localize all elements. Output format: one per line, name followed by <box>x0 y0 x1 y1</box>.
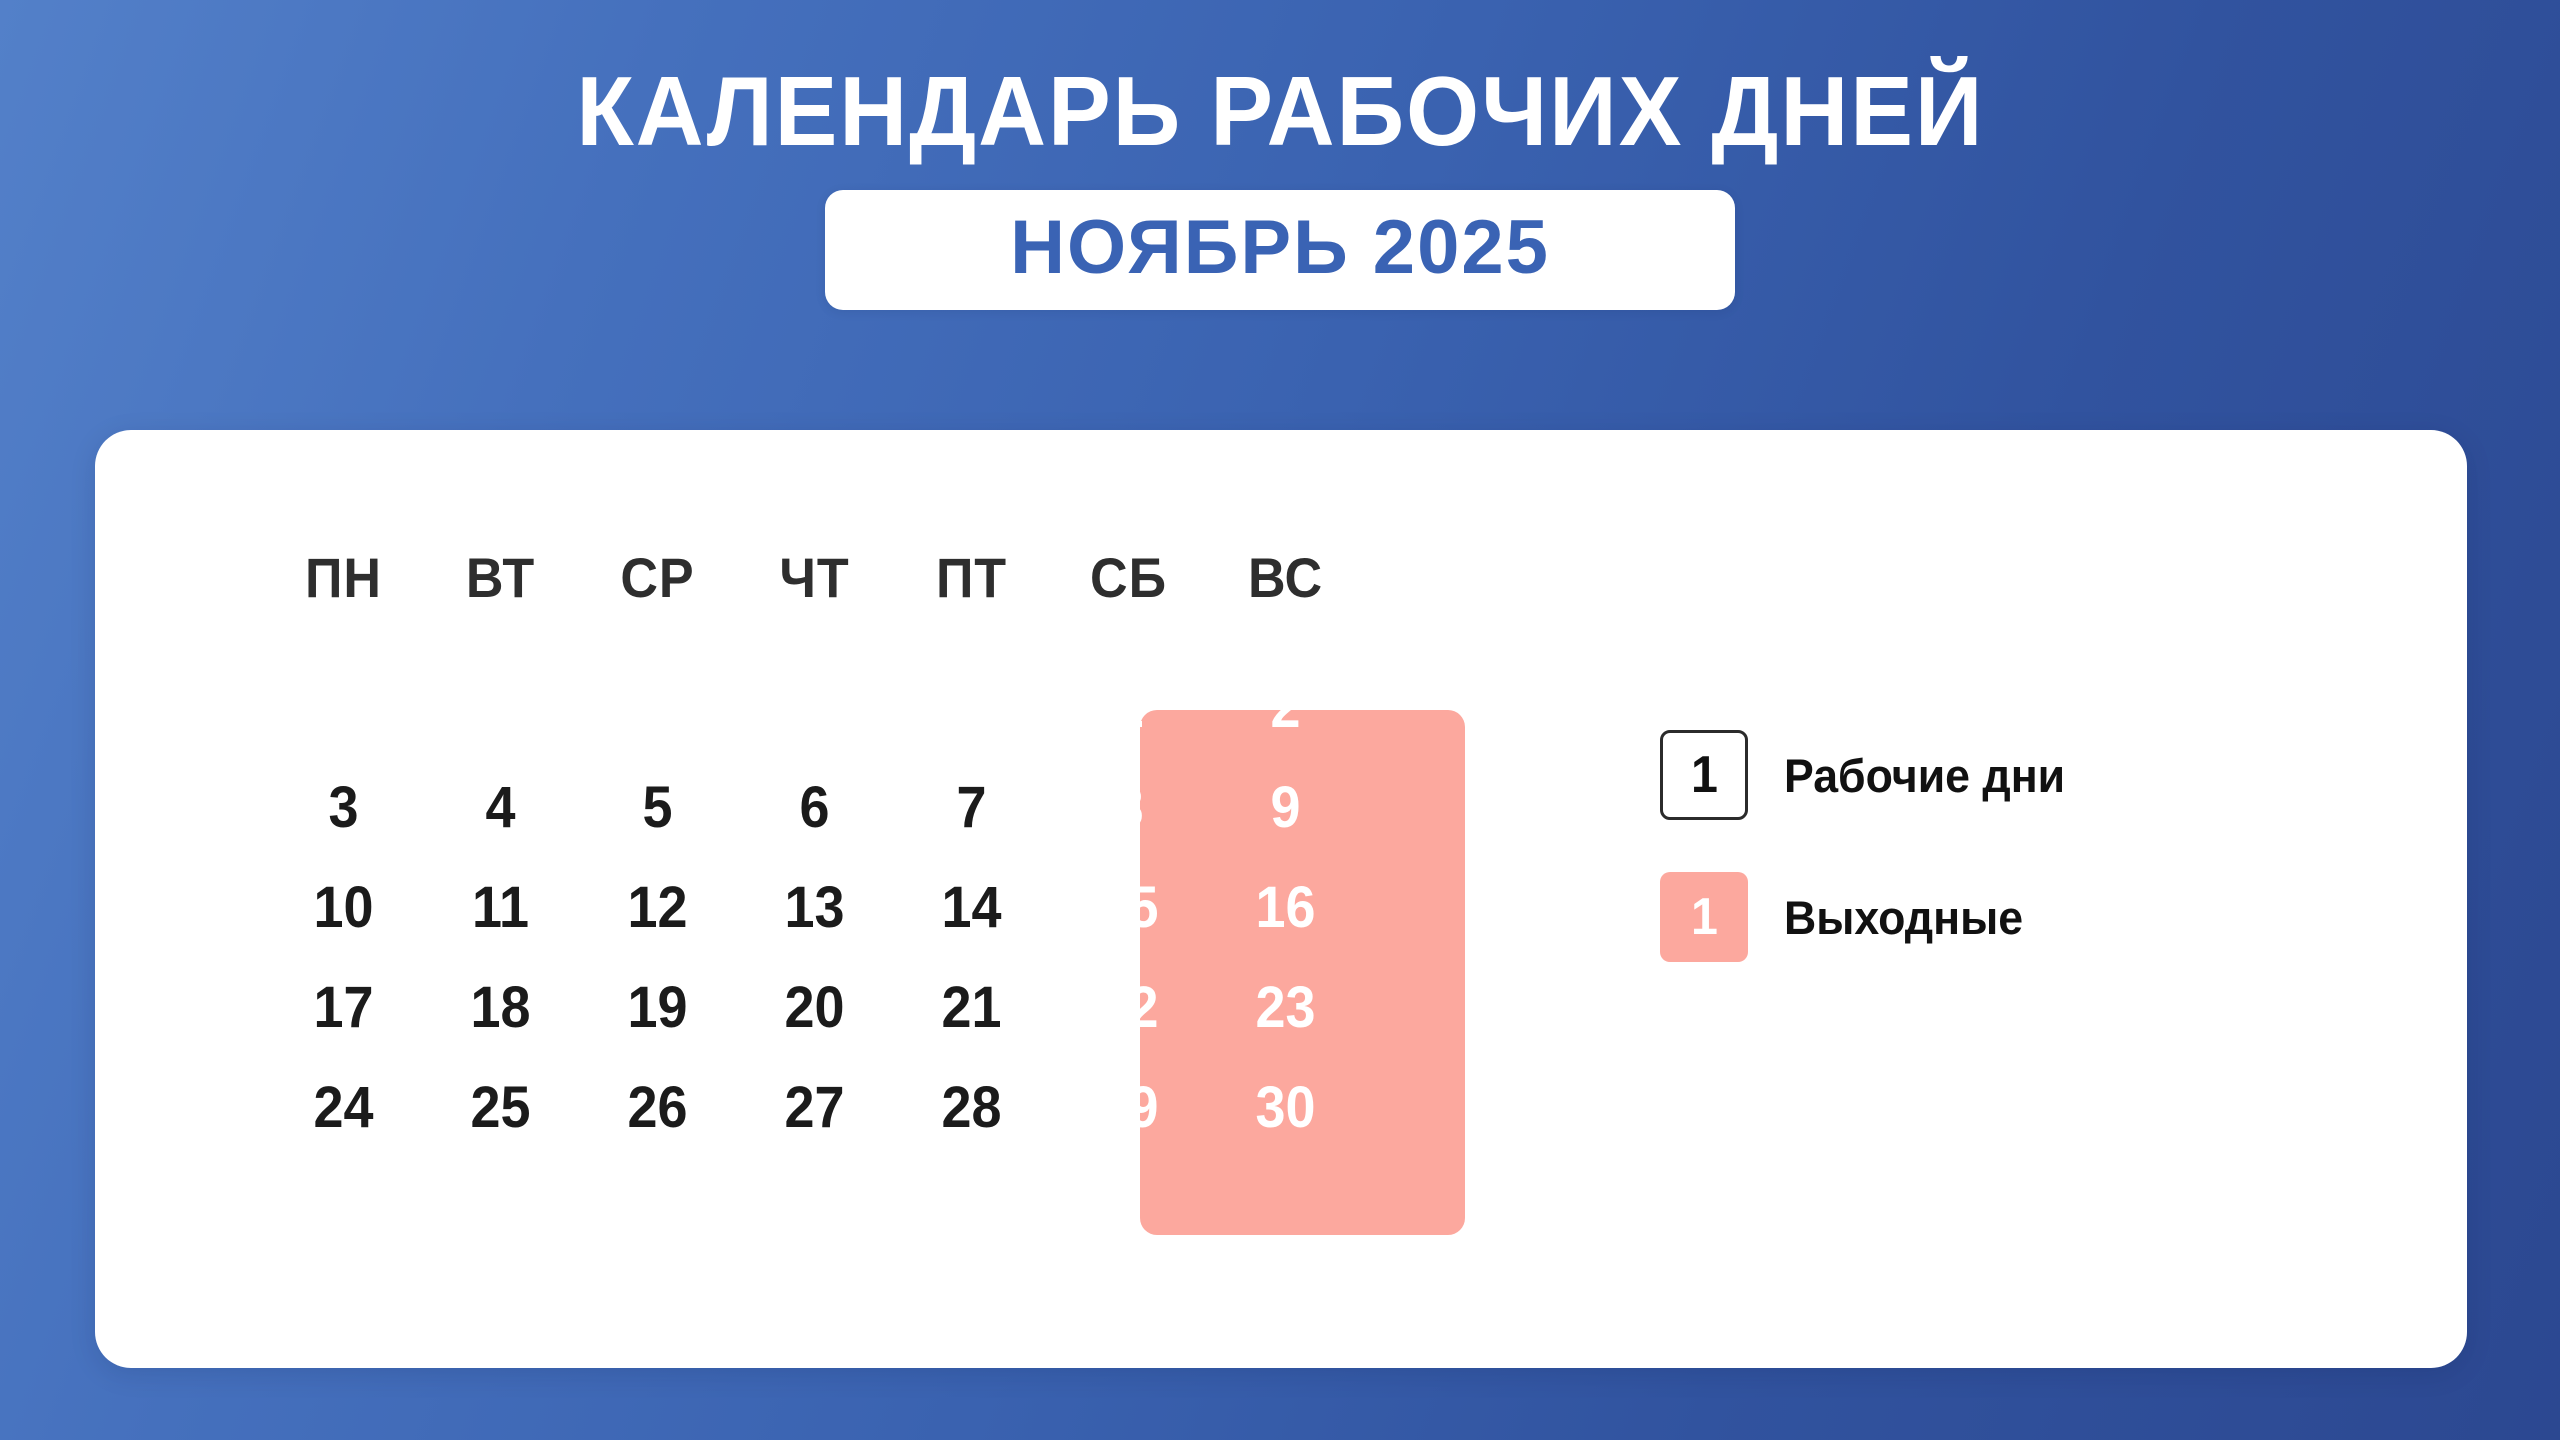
weekday-header-вт: ВТ <box>427 550 573 658</box>
calendar-grid: ПНВТСРЧТПТСБВС 1234567891011121314151617… <box>265 550 1465 1158</box>
legend-swatch-number: 1 <box>1691 891 1718 943</box>
calendar-day-19[interactable]: 19 <box>584 958 730 1058</box>
calendar-week-rows: 1234567891011121314151617181920212223242… <box>265 658 1465 1158</box>
calendar-day-10[interactable]: 10 <box>270 858 416 958</box>
calendar-week-row: 17181920212223 <box>265 958 1465 1058</box>
legend: 1Рабочие дни1Выходные <box>1660 730 2080 962</box>
calendar-day-21[interactable]: 21 <box>898 958 1044 1058</box>
legend-item-off: 1Выходные <box>1660 872 2080 962</box>
page-title: КАЛЕНДАРЬ РАБОЧИХ ДНЕЙ <box>576 62 1984 162</box>
legend-label: Выходные <box>1784 894 2023 941</box>
calendar-week-row: 10111213141516 <box>265 858 1465 958</box>
calendar-day-28[interactable]: 28 <box>898 1058 1044 1158</box>
weekday-header-ср: СР <box>584 550 730 658</box>
calendar-day-20[interactable]: 20 <box>741 958 887 1058</box>
calendar-day-17[interactable]: 17 <box>270 958 416 1058</box>
calendar-poster: КАЛЕНДАРЬ РАБОЧИХ ДНЕЙ НОЯБРЬ 2025 ПНВТС… <box>0 0 2560 1440</box>
calendar-day-empty <box>898 658 1044 758</box>
legend-label: Рабочие дни <box>1784 752 2065 799</box>
legend-swatch-weekend: 1 <box>1660 872 1748 962</box>
legend-item-work: 1Рабочие дни <box>1660 730 2080 820</box>
calendar-day-9[interactable]: 9 <box>1212 758 1358 858</box>
calendar-day-11[interactable]: 11 <box>427 858 573 958</box>
calendar-day-3[interactable]: 3 <box>270 758 416 858</box>
calendar-day-empty <box>427 658 573 758</box>
calendar-week-row: 24252627282930 <box>265 1058 1465 1158</box>
calendar-day-12[interactable]: 12 <box>584 858 730 958</box>
calendar-day-14[interactable]: 14 <box>898 858 1044 958</box>
calendar-day-16[interactable]: 16 <box>1212 858 1358 958</box>
calendar-card: ПНВТСРЧТПТСБВС 1234567891011121314151617… <box>95 430 2467 1368</box>
calendar-day-27[interactable]: 27 <box>741 1058 887 1158</box>
calendar-week-row: 12 <box>265 658 1465 758</box>
month-label: НОЯБРЬ 2025 <box>1010 210 1550 286</box>
weekday-header-row: ПНВТСРЧТПТСБВС <box>265 550 1465 658</box>
calendar-day-23[interactable]: 23 <box>1212 958 1358 1058</box>
calendar-day-13[interactable]: 13 <box>741 858 887 958</box>
calendar-day-24[interactable]: 24 <box>270 1058 416 1158</box>
weekday-header-пт: ПТ <box>898 550 1044 658</box>
calendar-day-empty <box>270 658 416 758</box>
month-badge: НОЯБРЬ 2025 <box>825 190 1735 310</box>
calendar-day-empty <box>741 658 887 758</box>
poster-header: КАЛЕНДАРЬ РАБОЧИХ ДНЕЙ НОЯБРЬ 2025 <box>0 0 2560 310</box>
weekday-header-чт: ЧТ <box>741 550 887 658</box>
calendar-day-5[interactable]: 5 <box>584 758 730 858</box>
legend-swatch-number: 1 <box>1691 749 1718 801</box>
calendar-day-6[interactable]: 6 <box>741 758 887 858</box>
calendar-day-8[interactable]: 8 <box>1055 758 1201 858</box>
calendar-day-2[interactable]: 2 <box>1212 658 1358 758</box>
calendar-day-7[interactable]: 7 <box>898 758 1044 858</box>
calendar-day-4[interactable]: 4 <box>427 758 573 858</box>
calendar-day-30[interactable]: 30 <box>1212 1058 1358 1158</box>
weekday-header-пн: ПН <box>270 550 416 658</box>
calendar-day-empty <box>584 658 730 758</box>
calendar-week-row: 3456789 <box>265 758 1465 858</box>
calendar-day-1[interactable]: 1 <box>1055 658 1201 758</box>
calendar-day-25[interactable]: 25 <box>427 1058 573 1158</box>
calendar-day-15[interactable]: 15 <box>1055 858 1201 958</box>
weekday-header-сб: СБ <box>1055 550 1201 658</box>
calendar-day-29[interactable]: 29 <box>1055 1058 1201 1158</box>
calendar-day-18[interactable]: 18 <box>427 958 573 1058</box>
calendar-day-22[interactable]: 22 <box>1055 958 1201 1058</box>
weekday-header-вс: ВС <box>1212 550 1358 658</box>
legend-swatch-working-day: 1 <box>1660 730 1748 820</box>
calendar-day-26[interactable]: 26 <box>584 1058 730 1158</box>
